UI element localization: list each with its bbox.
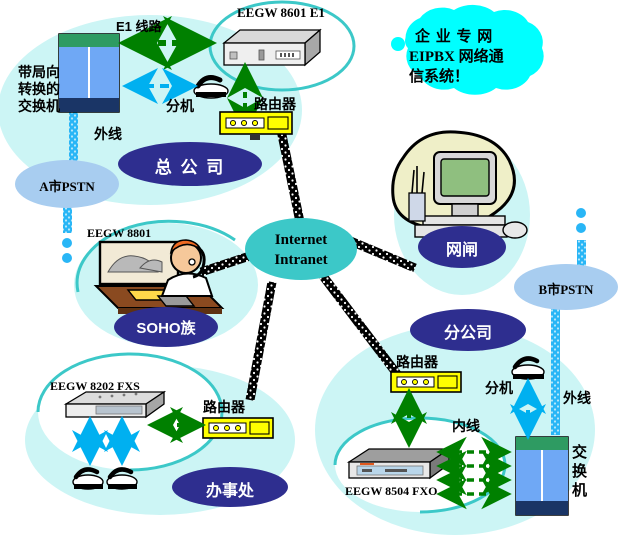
link-label-internal-b: 内线 bbox=[452, 416, 480, 436]
zone-label-soho-text: SOHO族 bbox=[126, 317, 206, 338]
link-label-extension-a: 分机 bbox=[166, 96, 194, 116]
internet-label: Internet bbox=[246, 232, 356, 249]
pstn-a-label: A市PSTN bbox=[27, 176, 107, 195]
link-label-e1-line: E1 线路 bbox=[116, 16, 162, 35]
link-label-switch-a: 带局向 转换的 交换机 bbox=[18, 64, 60, 115]
callout-line-1: 企 业 专 网 bbox=[415, 28, 565, 48]
device-label-eegw-8504: EEGW 8504 FXO bbox=[345, 484, 437, 499]
pbx-switch-b[interactable] bbox=[516, 437, 568, 515]
soho-scene[interactable] bbox=[96, 240, 222, 314]
router-branch[interactable] bbox=[391, 372, 461, 392]
callout-line-2: EIPBX 网络通 bbox=[409, 48, 569, 68]
zone-label-head-office-text: 总 公 司 bbox=[130, 153, 250, 178]
pbx-switch-a[interactable] bbox=[59, 34, 119, 112]
device-label-eegw-8801: EEGW 8801 bbox=[87, 226, 151, 241]
pstn-b-label: B市PSTN bbox=[526, 279, 606, 298]
callout-line-3: 信系统！ bbox=[409, 68, 569, 88]
device-eegw-8601[interactable] bbox=[224, 30, 320, 65]
device-eegw-8504[interactable] bbox=[349, 449, 449, 478]
zone-label-office-text: 办事处 bbox=[190, 477, 270, 501]
link-label-trunk-b: 外线 bbox=[563, 388, 591, 408]
device-label-eegw-8601: EEGW 8601 E1 bbox=[237, 5, 325, 21]
link-label-trunk-a: 外线 bbox=[94, 124, 122, 144]
link-label-router-office: 路由器 bbox=[203, 397, 245, 417]
link-label-router-branch: 路由器 bbox=[396, 352, 438, 372]
internet-intranet-node[interactable] bbox=[245, 218, 357, 280]
intranet-label: Intranet bbox=[246, 252, 356, 269]
router-office[interactable] bbox=[203, 418, 273, 438]
network-diagram: 企 业 专 网 EIPBX 网络通 信系统！ Internet Intranet… bbox=[0, 0, 624, 541]
device-label-eegw-8202: EEGW 8202 FXS bbox=[50, 379, 140, 394]
link-label-extension-b: 分机 bbox=[485, 378, 513, 398]
link-label-router-hq: 路由器 bbox=[254, 94, 296, 114]
zone-label-gateway-text: 网闸 bbox=[432, 236, 492, 260]
link-label-switch-b: 交 换 机 bbox=[572, 443, 587, 500]
device-eegw-8202[interactable] bbox=[66, 392, 164, 417]
zone-label-branch-text: 分公司 bbox=[428, 319, 508, 343]
